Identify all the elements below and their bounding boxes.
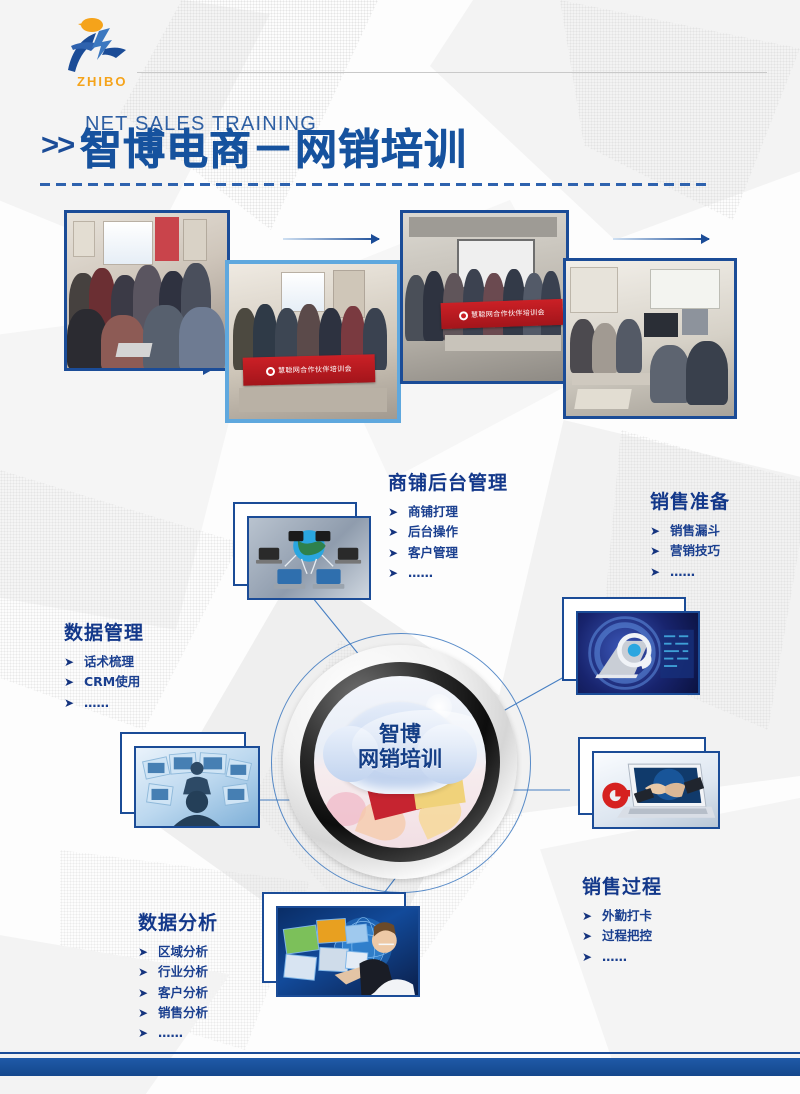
arrow-bullet-icon: ➤ — [582, 951, 597, 963]
network-globe-laptops-icon — [249, 518, 369, 598]
branch-data-management: 数据管理 ➤话术梳理 ➤CRM使用 ➤…… — [64, 618, 144, 713]
list-item: ➤营销技巧 — [650, 541, 730, 561]
thumb-touchscreen-businessman[interactable] — [262, 892, 420, 997]
branch-item-list: ➤商铺打理 ➤后台操作 ➤客户管理 ➤…… — [388, 502, 508, 583]
person-floating-screens-icon — [136, 748, 258, 826]
branch-title: 销售过程 — [582, 872, 662, 899]
branch-data-analysis: 数据分析 ➤区域分析 ➤行业分析 ➤客户分析 ➤销售分析 ➤…… — [138, 908, 218, 1043]
list-item: ➤话术梳理 — [64, 652, 144, 672]
hub-inner-disc: 智博 网销培训 — [314, 676, 486, 848]
list-item: ➤销售分析 — [138, 1003, 218, 1023]
list-item: ➤过程把控 — [582, 926, 662, 946]
arrow-bullet-icon: ➤ — [650, 525, 665, 537]
thumb-front-card — [276, 906, 420, 997]
thumb-front-card — [576, 611, 700, 695]
thumb-front-card — [592, 751, 720, 829]
hub-label-line1: 智博 — [336, 722, 464, 747]
branch-item-list: ➤销售漏斗 ➤营销技巧 ➤…… — [650, 521, 730, 582]
arrow-bullet-icon: ➤ — [138, 987, 153, 999]
thumb-laptop-handshake[interactable] — [578, 737, 720, 829]
arrow-bullet-icon: ➤ — [64, 676, 79, 688]
arrow-bullet-icon: ➤ — [388, 547, 403, 559]
list-item: ➤…… — [64, 693, 144, 713]
thumb-person-floating-screens[interactable] — [120, 732, 260, 828]
list-item: ➤行业分析 — [138, 962, 218, 982]
touchscreen-businessman-icon — [278, 908, 418, 995]
arrow-bullet-icon: ➤ — [138, 966, 153, 978]
arrow-bullet-icon: ➤ — [138, 1007, 153, 1019]
branch-sales-prep: 销售准备 ➤销售漏斗 ➤营销技巧 ➤…… — [650, 487, 730, 582]
branch-item-list: ➤话术梳理 ➤CRM使用 ➤…… — [64, 652, 144, 713]
arrow-bullet-icon: ➤ — [388, 567, 403, 579]
arrow-bullet-icon: ➤ — [582, 930, 597, 942]
thumb-front-card — [134, 746, 260, 828]
list-item: ➤客户管理 — [388, 543, 508, 563]
list-item: ➤客户分析 — [138, 983, 218, 1003]
thumb-network-globe-laptops[interactable] — [233, 502, 371, 600]
footer-bar — [0, 1058, 800, 1076]
list-item: ➤商铺打理 — [388, 502, 508, 522]
arrow-bullet-icon: ➤ — [650, 566, 665, 578]
list-item: ➤销售漏斗 — [650, 521, 730, 541]
arrow-bullet-icon: ➤ — [64, 697, 79, 709]
branch-sales-process: 销售过程 ➤外勤打卡 ➤过程把控 ➤…… — [582, 872, 662, 967]
branch-shop-backend: 商铺后台管理 ➤商铺打理 ➤后台操作 ➤客户管理 ➤…… — [388, 468, 508, 583]
list-item: ➤区域分析 — [138, 942, 218, 962]
branch-title: 销售准备 — [650, 487, 730, 514]
arrow-bullet-icon: ➤ — [64, 656, 79, 668]
center-hub: 智博 网销培训 — [283, 645, 517, 879]
at-symbol-laptop-icon — [578, 613, 698, 693]
arrow-bullet-icon: ➤ — [138, 1027, 153, 1039]
branch-title: 数据分析 — [138, 908, 218, 935]
list-item: ➤…… — [582, 947, 662, 967]
list-item: ➤CRM使用 — [64, 672, 144, 692]
footer-thin-line — [0, 1052, 800, 1054]
laptop-handshake-e-icon — [594, 753, 718, 827]
arrow-bullet-icon: ➤ — [388, 506, 403, 518]
arrow-bullet-icon: ➤ — [650, 545, 665, 557]
list-item: ➤…… — [138, 1023, 218, 1043]
thumb-at-symbol-laptop[interactable] — [562, 597, 700, 695]
hub-label: 智博 网销培训 — [336, 722, 464, 772]
branch-title: 数据管理 — [64, 618, 144, 645]
branch-item-list: ➤区域分析 ➤行业分析 ➤客户分析 ➤销售分析 ➤…… — [138, 942, 218, 1043]
list-item: ➤外勤打卡 — [582, 906, 662, 926]
branch-title: 商铺后台管理 — [388, 468, 508, 495]
thumb-front-card — [247, 516, 371, 600]
arrow-bullet-icon: ➤ — [388, 526, 403, 538]
list-item: ➤后台操作 — [388, 522, 508, 542]
branch-item-list: ➤外勤打卡 ➤过程把控 ➤…… — [582, 906, 662, 967]
hub-label-line2: 网销培训 — [336, 747, 464, 772]
arrow-bullet-icon: ➤ — [582, 910, 597, 922]
list-item: ➤…… — [388, 563, 508, 583]
list-item: ➤…… — [650, 562, 730, 582]
arrow-bullet-icon: ➤ — [138, 946, 153, 958]
